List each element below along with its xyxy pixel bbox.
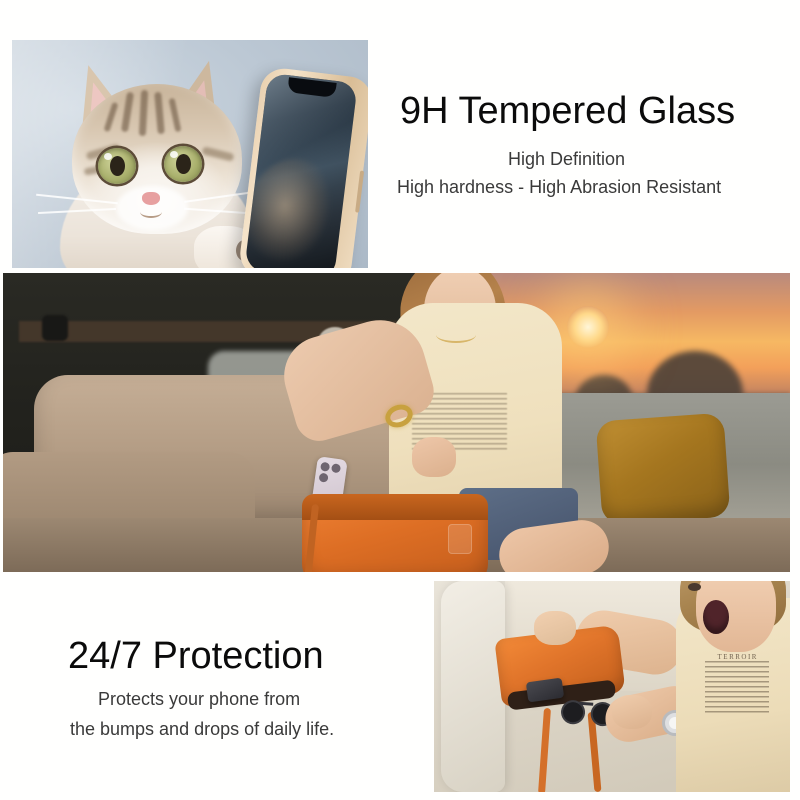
phone-screen — [244, 73, 357, 268]
cat-eye-right — [164, 146, 202, 182]
handbag-opening — [302, 494, 488, 520]
photo-bag-dropping: TERROIR — [434, 581, 790, 792]
woman-necklace — [436, 327, 476, 343]
woman-hand-grabbing — [612, 695, 652, 729]
shelf-jar — [42, 315, 68, 341]
cat-eye-glint — [104, 153, 112, 160]
cat-eye-left — [98, 148, 136, 184]
orange-handbag — [302, 494, 488, 572]
tank-top-print — [705, 661, 769, 716]
camera-lens — [318, 473, 328, 483]
photo-cat-with-phone — [12, 40, 368, 268]
tempered-glass-subtitle-line1: High Definition — [508, 146, 625, 172]
cat-mouth — [140, 206, 162, 218]
setting-sun — [567, 306, 609, 348]
cat-pupil — [110, 156, 125, 176]
tempered-glass-subtitle-line2: High hardness - High Abrasion Resistant — [397, 174, 721, 200]
handbag-tag — [448, 524, 472, 554]
protection-title: 24/7 Protection — [68, 637, 324, 677]
cat-eye-glint — [170, 151, 178, 158]
woman-hand-holding-bag — [534, 611, 576, 645]
mustard-throw-pillow — [596, 412, 731, 525]
camera-lens — [331, 464, 341, 474]
protection-subtitle-line2: the bumps and drops of daily life. — [70, 716, 334, 742]
protection-subtitle-line1: Protects your phone from — [98, 686, 300, 712]
cat-nose — [142, 192, 160, 205]
camera-lens — [320, 462, 330, 472]
tank-top-wordmark: TERROIR — [718, 653, 758, 661]
cat-pupil — [176, 154, 191, 174]
cream-sofa-armrest — [441, 581, 505, 792]
woman-hand — [412, 437, 456, 477]
screen-glare — [244, 73, 357, 268]
photo-woman-sofa-sunset — [3, 273, 790, 572]
product-feature-page: 9H Tempered Glass High Definition High h… — [0, 0, 800, 800]
tempered-glass-title: 9H Tempered Glass — [400, 92, 735, 132]
